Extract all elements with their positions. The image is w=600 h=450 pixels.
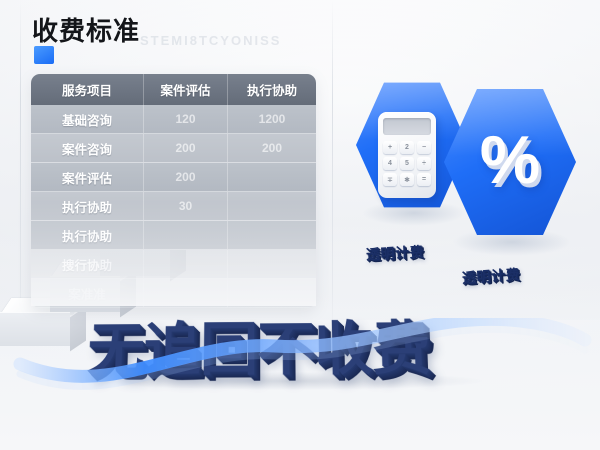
table-header-row: 服务项目 案件评估 执行协助 <box>31 74 316 105</box>
table-cell: 搜行协助 <box>31 250 143 278</box>
table-row[interactable]: 案件评估200 <box>31 163 316 192</box>
calculator-key: ∓ <box>383 173 397 186</box>
watermark-text: STEMI8TCYONISS <box>140 33 281 48</box>
table-cell: 200 <box>227 134 316 162</box>
table-cell: 120 <box>143 105 227 133</box>
table-row[interactable]: 基础咨询1201200 <box>31 105 316 134</box>
badge-caption-percent: 透明计费 <box>461 264 520 288</box>
calculator-key: = <box>417 173 431 186</box>
calculator-key: 5 <box>400 157 414 170</box>
page-title: 收费标准 <box>32 18 140 44</box>
table-row[interactable]: 执行协助30 <box>31 192 316 221</box>
table-cell: 200 <box>143 163 227 191</box>
calculator-key: ✱ <box>400 173 414 186</box>
table-row[interactable]: 搜行协助 <box>31 250 316 279</box>
calculator-keypad: +2−45÷∓✱= <box>383 141 431 186</box>
calculator-icon: +2−45÷∓✱= <box>378 112 436 198</box>
table-cell: 200 <box>143 134 227 162</box>
table-cell: 案件咨询 <box>31 134 143 162</box>
calculator-key: 4 <box>383 157 397 170</box>
calculator-key: ÷ <box>417 157 431 170</box>
table-cell <box>227 163 316 191</box>
table-row[interactable]: 案件咨询200200 <box>31 134 316 163</box>
table-header-cell: 服务项目 <box>31 74 143 105</box>
table-cell: 案件评估 <box>31 163 143 191</box>
table-cell: 基础咨询 <box>31 105 143 133</box>
badge-caption-calculator: 透明计费 <box>366 241 425 264</box>
calculator-key: 2 <box>400 141 414 154</box>
poster-canvas: STEMI8TCYONISS 收费标准 <box>0 0 600 450</box>
table-cell: 30 <box>143 192 227 220</box>
table-cell: 执行协助 <box>31 221 143 249</box>
table-header-cell: 执行协助 <box>227 74 316 105</box>
page-title-group: 收费标准 <box>32 18 140 44</box>
table-row[interactable]: 执行协助 <box>31 221 316 250</box>
pricing-table[interactable]: 服务项目 案件评估 执行协助 基础咨询1201200案件咨询200200案件评估… <box>31 74 316 308</box>
table-cell: 1200 <box>227 105 316 133</box>
title-accent-square <box>34 46 54 64</box>
ribbon-wave-graphic <box>0 318 600 408</box>
table-cell <box>227 192 316 220</box>
table-cell <box>143 250 227 278</box>
table-cell <box>143 221 227 249</box>
table-header-cell: 案件评估 <box>143 74 227 105</box>
calculator-key: + <box>383 141 397 154</box>
table-cell: 执行协助 <box>31 192 143 220</box>
table-body: 基础咨询1201200案件咨询200200案件评估200执行协助30执行协助搜行… <box>31 105 316 308</box>
calculator-key: − <box>417 141 431 154</box>
table-cell <box>227 250 316 278</box>
calculator-display <box>383 118 431 135</box>
table-cell <box>227 221 316 249</box>
percent-icon: % <box>470 105 550 215</box>
